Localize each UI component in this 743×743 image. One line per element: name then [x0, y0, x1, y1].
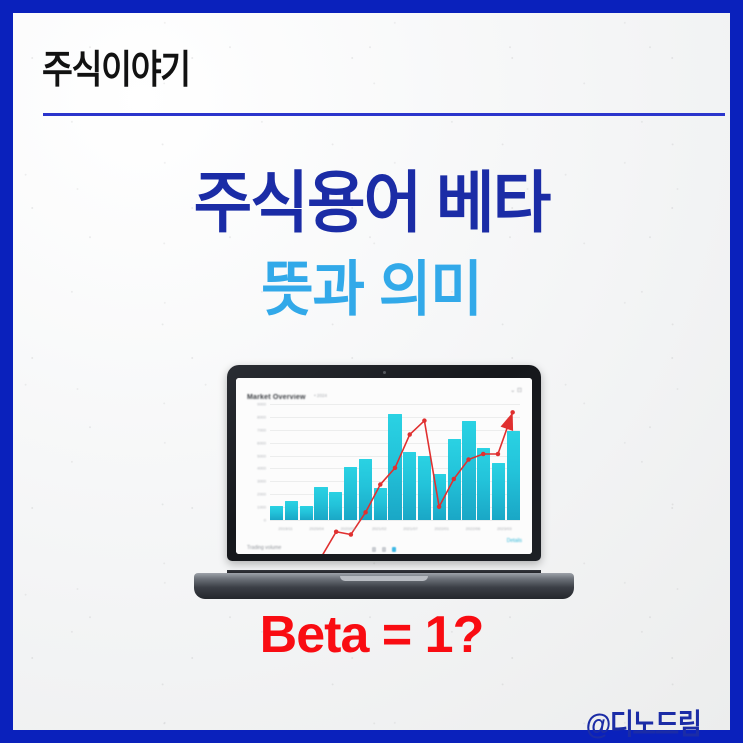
- x-axis-tick: 2020/04: [309, 526, 323, 534]
- trend-point: [452, 477, 457, 482]
- trend-point: [437, 505, 442, 510]
- laptop-lid: Market Overview • 2024 ⌄ ⊡ 9000800070006…: [227, 365, 541, 561]
- x-axis-tick: 2023/03: [497, 526, 511, 534]
- y-axis-tick: 1000: [257, 505, 266, 510]
- chart-plot-area: 9000800070006000500040003000200010000: [270, 404, 520, 520]
- y-axis-tick: 6000: [257, 440, 266, 445]
- trend-point: [422, 418, 427, 423]
- trend-point: [378, 482, 382, 487]
- laptop-base: [194, 573, 574, 599]
- chart-x-axis-labels: 2019/112020/042020/092021/022021/072022/…: [270, 526, 520, 534]
- header-divider: [43, 113, 725, 116]
- x-axis-tick: 2022/01: [435, 526, 449, 534]
- poster-card: 주식이야기 주식용어 베타 뜻과 의미 Market Overview • 20…: [0, 0, 743, 743]
- trend-point: [496, 452, 501, 457]
- page-subtitle: 뜻과 의미: [31, 241, 712, 328]
- trend-point: [363, 510, 368, 515]
- laptop-screen: Market Overview • 2024 ⌄ ⊡ 9000800070006…: [236, 378, 532, 554]
- chart-details-link[interactable]: Details: [507, 538, 522, 544]
- laptop-mockup: Market Overview • 2024 ⌄ ⊡ 9000800070006…: [194, 365, 574, 599]
- x-axis-tick: 2021/02: [372, 526, 386, 534]
- y-axis-tick: 8000: [257, 414, 266, 419]
- pager-dot[interactable]: [372, 547, 376, 552]
- trend-arrow-icon: [501, 412, 514, 431]
- y-axis-tick: 0: [264, 518, 266, 523]
- pager-dot[interactable]: [382, 547, 386, 552]
- y-axis-tick: 4000: [257, 466, 266, 471]
- y-axis-tick: 9000: [257, 402, 266, 407]
- chart-app: Market Overview • 2024 ⌄ ⊡ 9000800070006…: [236, 378, 532, 554]
- chart-subtitle: • 2024: [314, 393, 327, 398]
- watermark-handle: @디노드림: [585, 701, 700, 743]
- webcam-icon: [383, 371, 386, 374]
- page-title: 주식용어 베타: [31, 149, 712, 246]
- y-axis-tick: 2000: [257, 492, 266, 497]
- x-axis-tick: 2022/06: [466, 526, 480, 534]
- x-axis-tick: 2019/11: [278, 526, 292, 534]
- beta-callout: Beta = 1?: [13, 605, 730, 665]
- trend-point: [481, 452, 486, 457]
- trend-point: [407, 432, 412, 437]
- chart-title: Market Overview: [247, 394, 306, 401]
- x-axis-tick: 2020/09: [341, 526, 355, 534]
- page-kicker: 주식이야기: [42, 39, 190, 95]
- y-axis-tick: 5000: [257, 453, 266, 458]
- x-axis-tick: 2021/07: [403, 526, 417, 534]
- trend-point: [466, 457, 471, 462]
- chart-footer: Trading volume Details: [247, 536, 522, 544]
- y-axis-tick: 7000: [257, 427, 266, 432]
- trend-point: [393, 466, 398, 471]
- poster-background: 주식이야기 주식용어 베타 뜻과 의미 Market Overview • 20…: [13, 13, 730, 730]
- y-axis-tick: 3000: [257, 479, 266, 484]
- chart-pager[interactable]: [236, 547, 532, 552]
- chart-header: Market Overview • 2024 ⌄ ⊡: [247, 386, 522, 400]
- chart-actions-icon[interactable]: ⌄ ⊡: [510, 387, 522, 394]
- pager-dot-active[interactable]: [392, 547, 396, 552]
